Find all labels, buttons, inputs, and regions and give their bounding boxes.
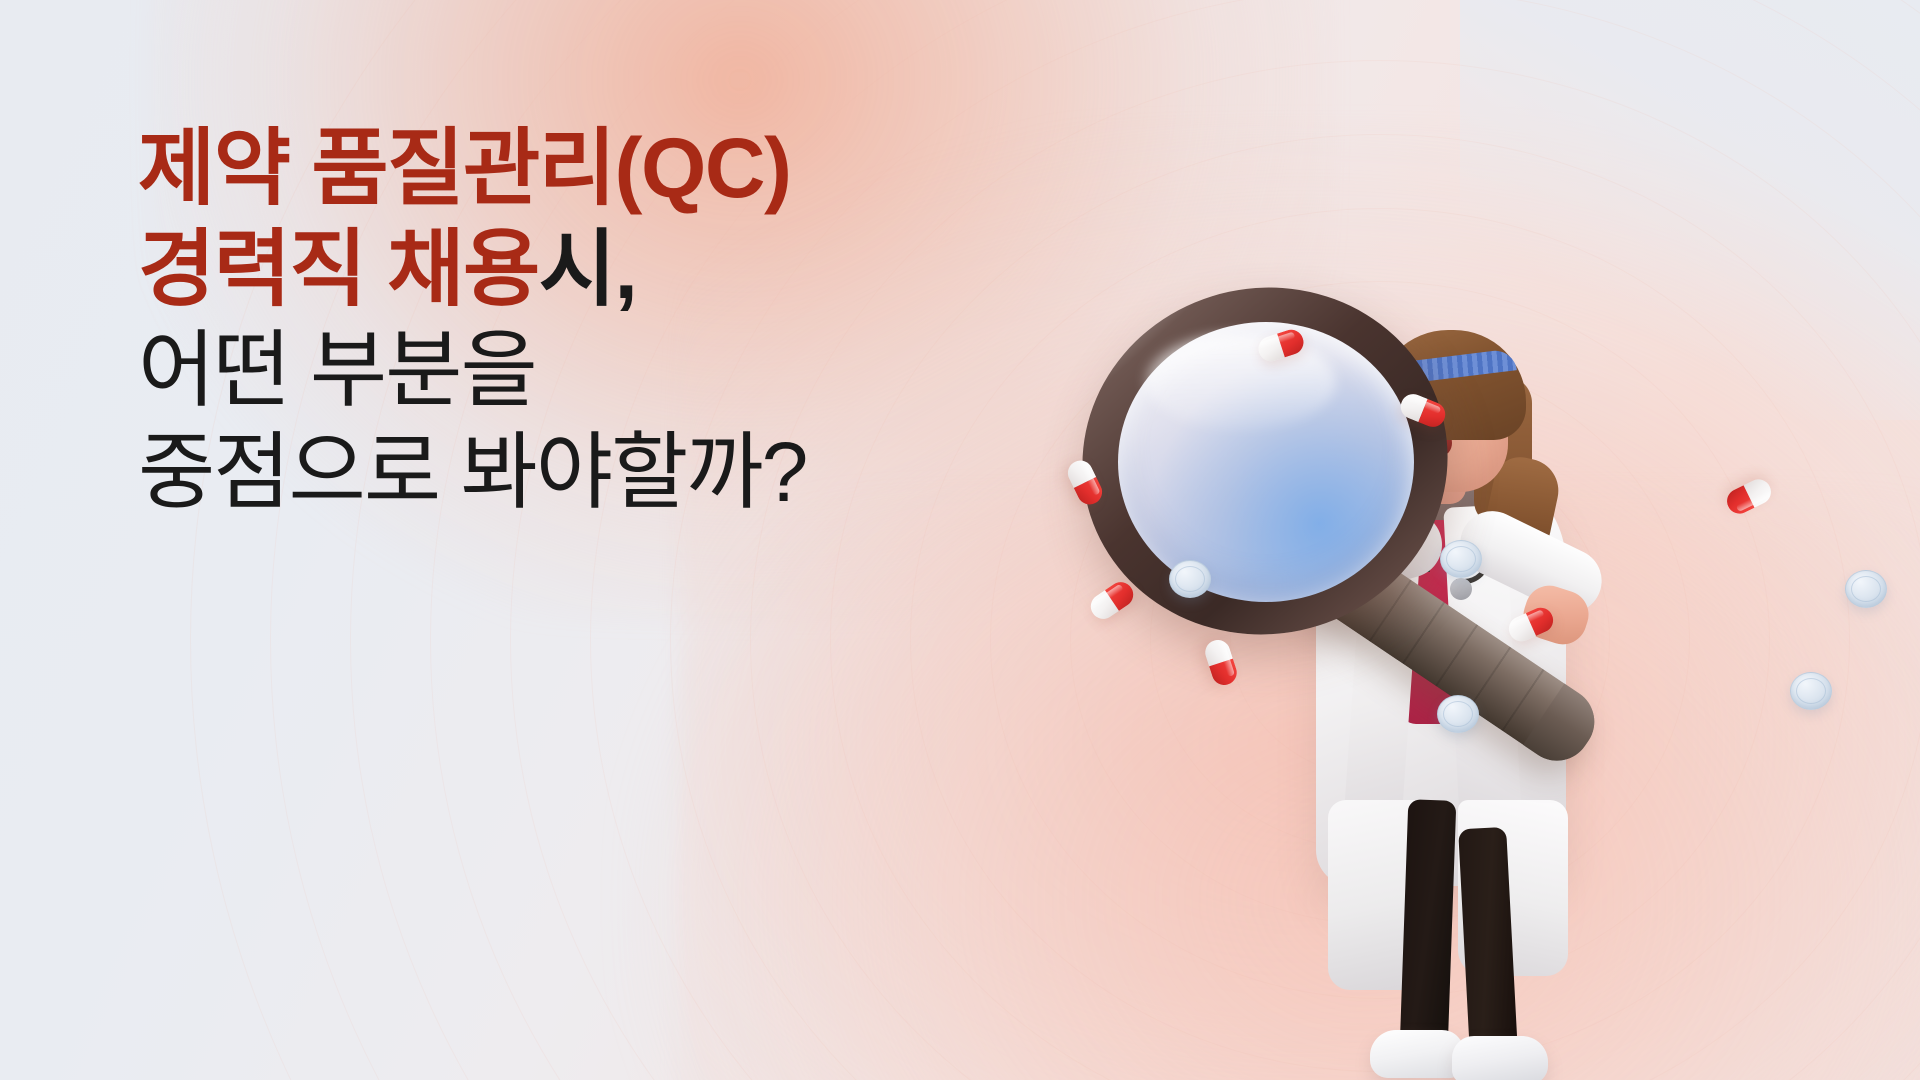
sneaker-left <box>1370 1030 1464 1078</box>
headline-line-1: 제약 품질관리(QC) <box>138 118 1198 219</box>
blue-round-tablet <box>1440 540 1482 578</box>
blue-round-tablet <box>1790 672 1832 710</box>
blue-round-tablet <box>1437 695 1479 733</box>
headline-line-2-black: 시, <box>539 222 637 316</box>
promo-banner: 제약 품질관리(QC) 경력직 채용시, 어떤 부분을 중점으로 봐야할까? <box>0 0 1920 1080</box>
blue-round-tablet <box>1845 570 1887 608</box>
headline-line-3: 어떤 부분을 <box>138 320 1198 421</box>
sneaker-right <box>1452 1036 1548 1080</box>
headline-line-4: 중점으로 봐야할까? <box>138 422 1198 523</box>
headline-block: 제약 품질관리(QC) 경력직 채용시, 어떤 부분을 중점으로 봐야할까? <box>138 118 1198 523</box>
headline-line-2-red: 경력직 채용 <box>138 222 539 316</box>
leg-left <box>1400 799 1457 1051</box>
red-white-capsule <box>1723 475 1775 518</box>
headline-line-2: 경력직 채용시, <box>138 219 1198 320</box>
blue-round-tablet <box>1169 560 1211 598</box>
